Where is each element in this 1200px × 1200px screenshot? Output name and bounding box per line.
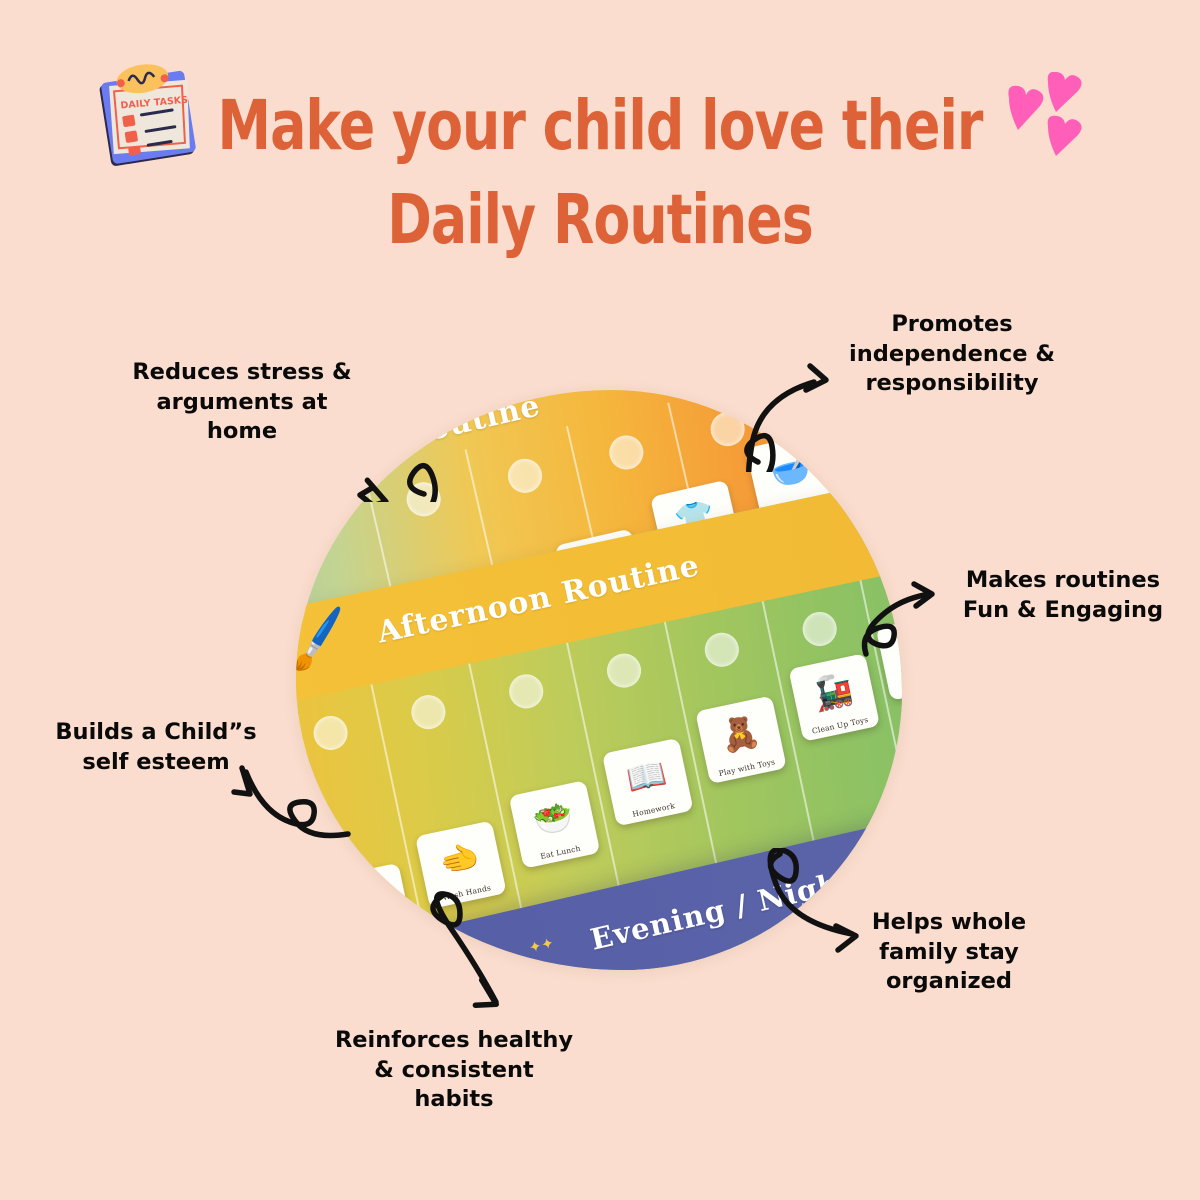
heart-icon — [1048, 72, 1082, 112]
routine-charts-photo: 🚽 Potty 🥗 Snack Time Morning Routine 🚽 P… — [296, 390, 902, 970]
sticker-dot — [604, 650, 644, 690]
callout-reinforces-habits: Reinforces healthy& consistenthabits — [318, 1026, 590, 1115]
washing-hands-icon: 🫲 — [434, 824, 486, 892]
callout-reduces-stress: Reduces stress &arguments athome — [98, 358, 386, 447]
sticker-dot — [800, 609, 840, 649]
homework-icon: 📖 — [621, 742, 673, 810]
sticker-dot — [506, 671, 546, 711]
sticker-dot — [707, 409, 748, 450]
callout-makes-routines-fun: Makes routinesFun & Engaging — [938, 566, 1188, 625]
sticker-dot — [606, 432, 647, 473]
cleanup-toys-icon: 🚂 — [807, 657, 859, 725]
routine-card: 🎨 Art — [322, 863, 414, 952]
title-line-1: Make your child love their — [216, 78, 984, 175]
callout-promotes-independence: Promotesindependence &responsibility — [818, 310, 1086, 399]
painting-easel-icon: 🖌️ — [296, 608, 356, 672]
playground-icon: 🏞️ — [894, 616, 902, 684]
toys-icon: 🧸 — [714, 699, 766, 767]
routine-card: 🫲 Wash Hands — [415, 820, 507, 909]
routine-card: 🚂 Clean Up Toys — [788, 653, 880, 742]
sticker-dot — [310, 713, 350, 753]
callout-helps-family-organized: Helps wholefamily stayorganized — [848, 908, 1050, 997]
routine-card: 📖 Homework — [602, 738, 694, 827]
paint-palette-icon: 🎨 — [340, 867, 392, 935]
routine-card: 🧸 Play with Toys — [695, 695, 787, 784]
sticker-dot — [302, 502, 343, 543]
drink-cup-icon: 🥤 — [844, 497, 902, 551]
school-icon: 🏫 — [860, 390, 902, 455]
daily-tasks-clipboard-icon: DAILY TASKS — [85, 54, 216, 175]
heart-icon — [1048, 116, 1082, 156]
hearts-decoration — [985, 72, 1095, 172]
lunch-plate-icon: 🥗 — [527, 784, 579, 852]
breakfast-icon: 🥣 — [764, 435, 817, 503]
sticker-dot — [408, 692, 448, 732]
routine-card: 🥗 Eat Lunch — [509, 780, 601, 869]
title-line-2: Daily Routines — [216, 172, 984, 269]
sticker-dot — [702, 630, 742, 670]
card-label: Art — [366, 929, 380, 940]
heart-icon — [1008, 86, 1043, 130]
page-title: Make your child love their Daily Routine… — [200, 78, 1000, 251]
sticker-dot — [403, 479, 444, 520]
header: DAILY TASKS Make your child love their D… — [0, 0, 1200, 270]
sticker-dot — [505, 455, 546, 496]
callout-builds-self-esteem: Builds a Child”sself esteem — [34, 718, 278, 777]
